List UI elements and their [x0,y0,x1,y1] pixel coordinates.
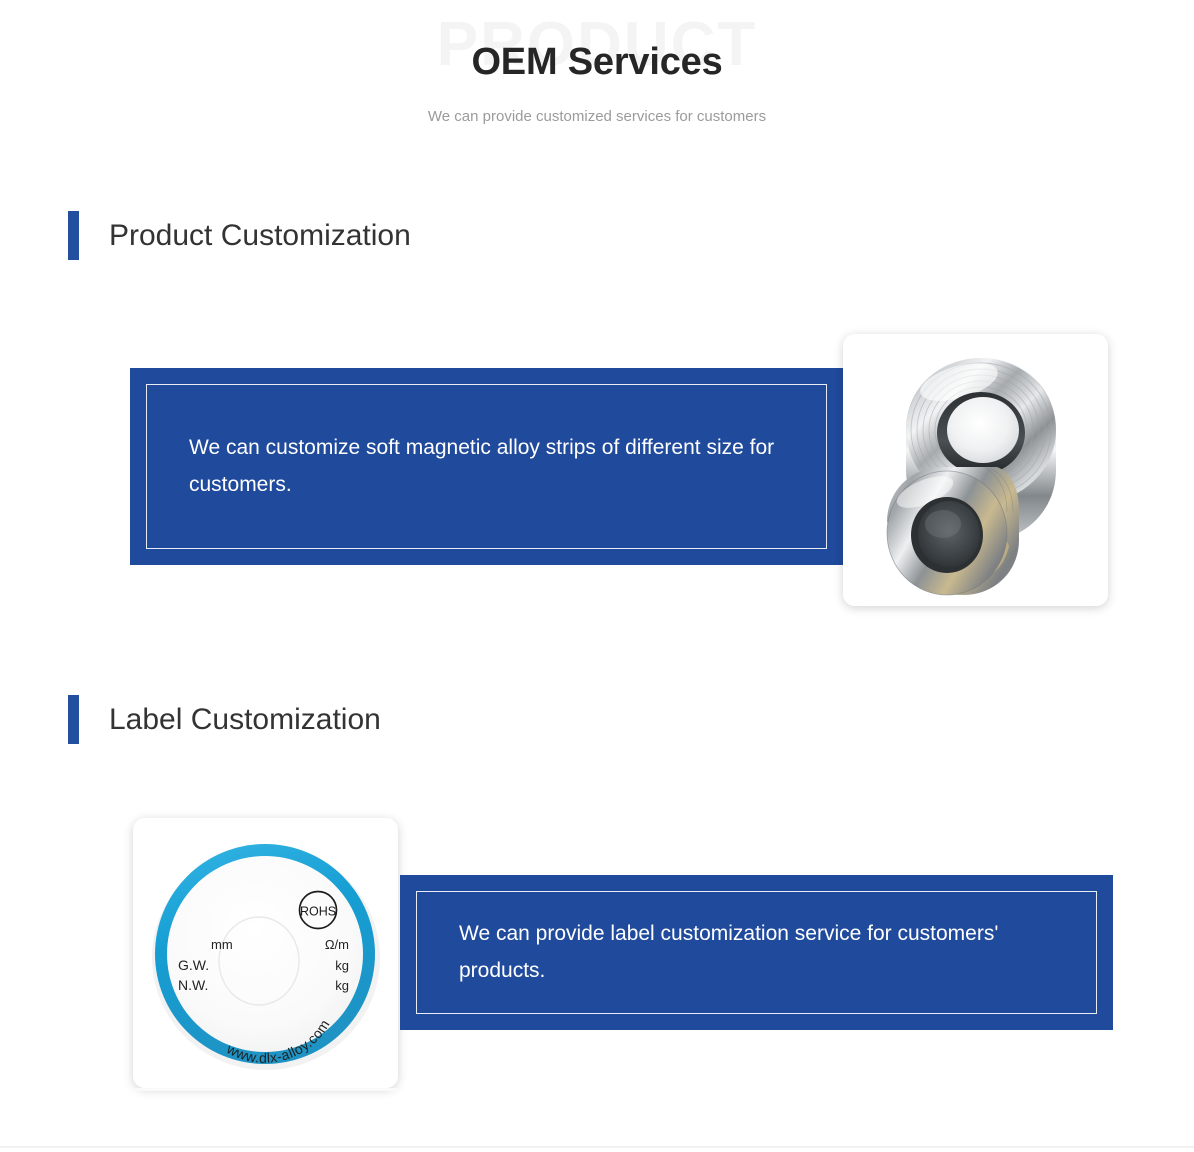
section-heading-label-customization: Label Customization [68,695,381,744]
content-edge-stub [133,1088,398,1091]
steel-coil-image [843,334,1108,606]
section-title-product-customization: Product Customization [109,219,411,253]
photo-card-round-label[interactable]: ROHS mm G.W. N.W. Ω/m kg kg www.dlx-allo… [133,818,398,1088]
label-net-weight: N.W. [178,977,208,993]
label-unit-kg-gross: kg [335,958,349,973]
page-subtitle: We can provide customized services for c… [0,108,1194,125]
page-title: OEM Services [0,40,1194,86]
label-gross-weight: G.W. [178,957,209,973]
label-unit-ohm-per-meter: Ω/m [325,937,349,952]
message-box-inner-border: We can customize soft magnetic alloy str… [146,384,827,549]
footer-divider [0,1146,1194,1148]
message-box-label-customization: We can provide label customization servi… [400,875,1113,1030]
page-header: PRODUCT OEM Services We can provide cust… [0,0,1194,150]
message-text-label-customization: We can provide label customization servi… [417,916,1096,990]
photo-card-steel-coils[interactable] [843,334,1108,606]
oem-services-page: PRODUCT OEM Services We can provide cust… [0,0,1194,1152]
round-label-image: ROHS mm G.W. N.W. Ω/m kg kg www.dlx-allo… [133,818,398,1088]
section-heading-product-customization: Product Customization [68,211,411,260]
message-box-product-customization: We can customize soft magnetic alloy str… [130,368,843,565]
label-unit-mm: mm [211,937,233,952]
rohs-badge-label: ROHS [300,905,336,919]
section-title-label-customization: Label Customization [109,703,381,737]
label-unit-kg-net: kg [335,978,349,993]
accent-bar-icon [68,695,79,744]
message-box-inner-border: We can provide label customization servi… [416,891,1097,1014]
message-text-product-customization: We can customize soft magnetic alloy str… [147,430,826,504]
accent-bar-icon [68,211,79,260]
